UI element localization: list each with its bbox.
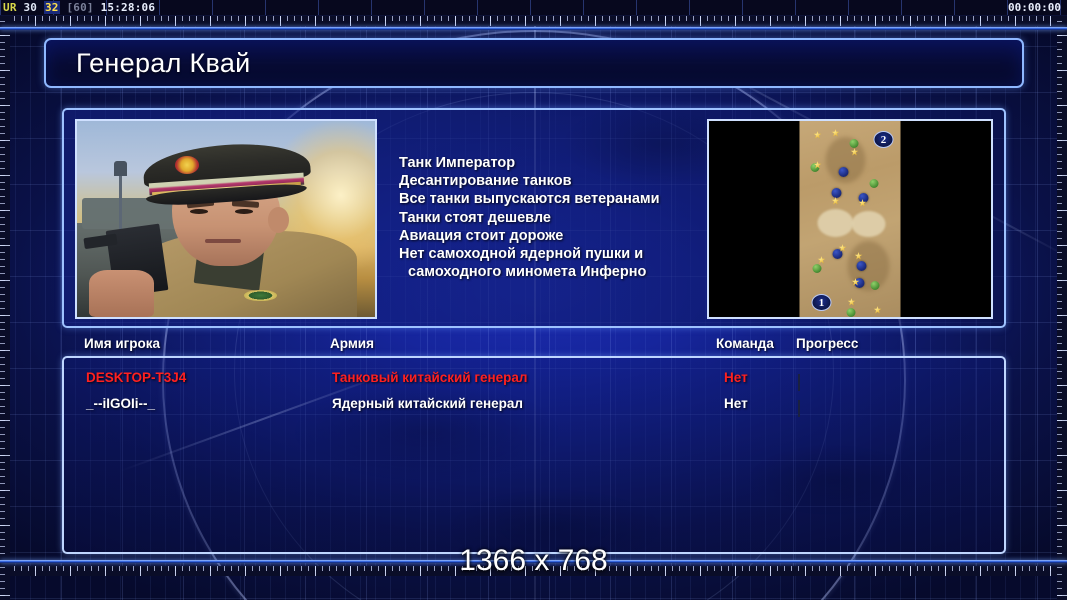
hud-top-bar: UR 30 32 [60] 15:28:06 00:00:00 <box>0 0 1067 16</box>
title-panel: Генерал Квай <box>44 38 1024 88</box>
minimap-frame[interactable]: 2 1 <box>707 119 993 319</box>
player-table-header: Имя игрока Армия Команда Прогресс <box>62 336 1006 358</box>
ability-line: Нет самоходной ядерной пушки и <box>399 245 699 263</box>
player-list-panel: DESKTOP-T3J4 Танковый китайский генерал … <box>62 356 1006 554</box>
table-row[interactable]: _--iIGOIi--_ Ядерный китайский генерал Н… <box>64 391 1004 417</box>
minimap-start-position-1: 1 <box>812 294 832 311</box>
hud-status-left: UR 30 32 [60] 15:28:06 <box>3 1 155 14</box>
progress-bar <box>798 400 800 417</box>
portrait-ear <box>268 207 289 232</box>
ruler-ticks-large <box>1057 0 1067 600</box>
divider-line-top <box>0 27 1067 30</box>
minimap-resource <box>874 306 882 314</box>
player-team: Нет <box>724 391 748 417</box>
minimap-resource <box>848 298 856 306</box>
player-team: Нет <box>724 365 748 391</box>
portrait-mouth <box>205 239 241 243</box>
player-name: DESKTOP-T3J4 <box>86 365 186 391</box>
player-army: Танковый китайский генерал <box>332 365 528 391</box>
hud-cells <box>0 0 1067 15</box>
ability-line: Танк Император <box>399 154 699 172</box>
ruler-right <box>1057 0 1067 600</box>
hud-label-ur: UR <box>3 1 17 14</box>
minimap-foliage <box>870 179 879 188</box>
minimap-supply <box>859 193 869 203</box>
table-row[interactable]: DESKTOP-T3J4 Танковый китайский генерал … <box>64 365 1004 391</box>
column-header-army: Армия <box>330 336 374 351</box>
portrait-cap-emblem <box>175 156 199 174</box>
ruler-ticks-large <box>0 16 1067 26</box>
ability-line: Авиация стоит дороже <box>399 227 699 245</box>
minimap-supply <box>839 167 849 177</box>
hud-clock: 15:28:06 <box>101 1 156 14</box>
minimap-foliage <box>847 308 856 317</box>
minimap-resource <box>814 131 822 139</box>
player-name: _--iIGOIi--_ <box>86 391 155 417</box>
portrait-pole <box>119 172 122 231</box>
minimap-foliage <box>871 281 880 290</box>
player-progress <box>798 396 800 422</box>
ability-line: самоходного миномета Инферно <box>399 263 699 281</box>
minimap-foliage <box>813 264 822 273</box>
ability-line: Танки стоят дешевле <box>399 209 699 227</box>
minimap-terrain-patch <box>852 211 886 237</box>
progress-bar <box>798 374 800 391</box>
minimap-supply <box>832 188 842 198</box>
column-header-progress: Прогресс <box>796 336 858 351</box>
minimap-terrain: 2 1 <box>800 121 901 319</box>
minimap-resource <box>818 256 826 264</box>
player-army: Ядерный китайский генерал <box>332 391 523 417</box>
minimap-supply <box>857 261 867 271</box>
general-ability-list: Танк Император Десантирование танков Все… <box>399 154 699 281</box>
game-screen: UR 30 32 [60] 15:28:06 00:00:00 Генерал … <box>0 0 1067 600</box>
hud-timer: 00:00:00 <box>1008 1 1061 14</box>
portrait-eye-right <box>235 209 253 214</box>
hud-value-2: 32 <box>44 1 60 14</box>
minimap-foliage <box>850 139 859 148</box>
column-header-player-name: Имя игрока <box>84 336 160 351</box>
ruler-left <box>0 0 10 600</box>
ruler-ticks-large <box>0 0 10 600</box>
ability-line: Десантирование танков <box>399 172 699 190</box>
portrait-eye-left <box>190 209 208 214</box>
general-info-panel: Танк Император Десантирование танков Все… <box>62 108 1006 328</box>
ruler-top <box>0 16 1067 26</box>
ability-line: Все танки выпускаются ветеранами <box>399 190 699 208</box>
portrait-hand <box>89 270 155 317</box>
minimap-resource <box>832 129 840 137</box>
hud-value-3: [60] <box>66 1 93 14</box>
page-title: Генерал Квай <box>76 48 251 79</box>
minimap-terrain-patch <box>818 209 854 237</box>
minimap-resource <box>832 197 840 205</box>
portrait-chest-badge <box>244 290 277 302</box>
hud-value-1: 30 <box>23 1 37 14</box>
minimap-start-position-2: 2 <box>874 131 894 148</box>
resolution-overlay: 1366 x 768 <box>0 544 1067 578</box>
general-portrait-frame <box>75 119 377 319</box>
column-header-team: Команда <box>716 336 774 351</box>
general-kwai-portrait <box>77 121 375 317</box>
